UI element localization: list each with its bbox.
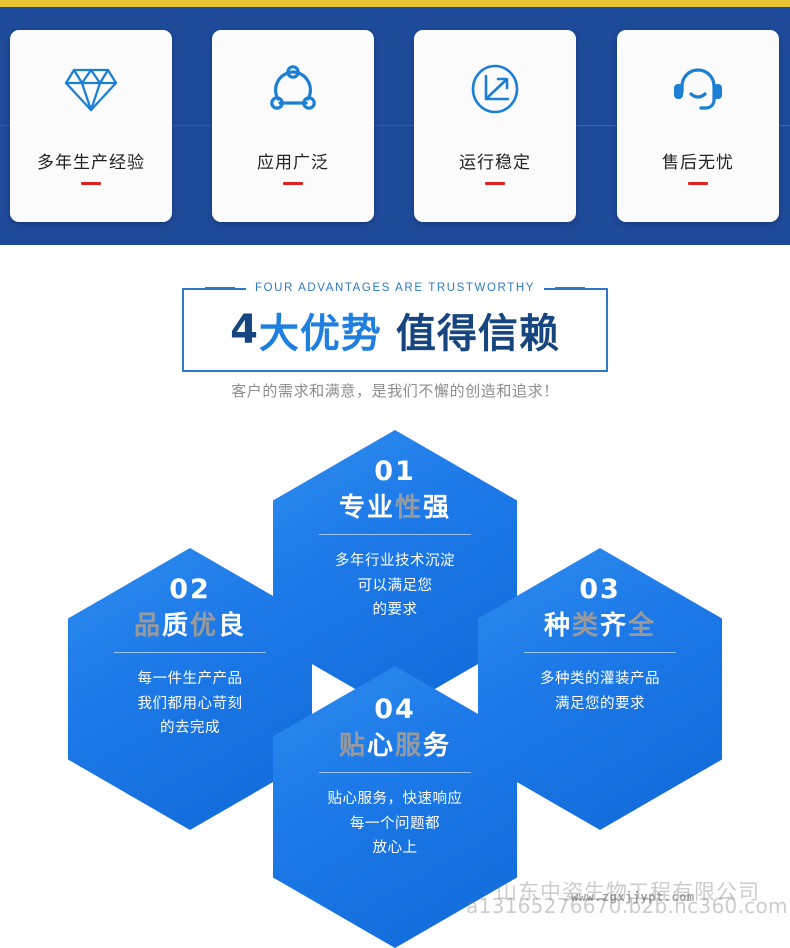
advantage-number: 01 (374, 458, 416, 485)
feature-card-label: 售后无忧 (662, 148, 734, 173)
advantage-divider (114, 652, 266, 653)
advantage-description: 多种类的灌装产品满足您的要求 (540, 667, 660, 717)
advantage-title-char: 质 (162, 611, 190, 641)
advantage-description-line: 每一件生产产品 (138, 667, 243, 692)
advantage-title-char: 品 (134, 611, 162, 641)
feature-card-experience[interactable]: 多年生产经验 (10, 30, 172, 222)
page-title: 4大优势值得信赖 (182, 288, 608, 372)
advantage-description: 每一件生产产品我们都用心苛刻的去完成 (138, 667, 243, 742)
advantage-description-line: 放心上 (328, 836, 463, 861)
advantage-title-char: 类 (572, 611, 600, 641)
card-underline-dash (485, 182, 505, 185)
card-underline-dash (688, 182, 708, 185)
advantage-title-char: 全 (628, 611, 656, 641)
advantage-title: 专业性强 (339, 494, 451, 523)
eyebrow-text: FOUR ADVANTAGES ARE TRUSTWORTHY (246, 282, 544, 294)
advantage-description-line: 的要求 (335, 598, 455, 623)
advantage-divider (524, 652, 676, 653)
section-heading: FOUR ADVANTAGES ARE TRUSTWORTHY 4大优势值得信赖… (0, 252, 790, 417)
features-band: 多年生产经验 应用广泛 (0, 7, 790, 245)
advantage-title-char: 优 (190, 611, 218, 641)
feature-card-after-sales[interactable]: 售后无忧 (617, 30, 779, 222)
network-share-icon (262, 60, 324, 118)
advantage-number: 03 (579, 576, 621, 603)
page-subtitle: 客户的需求和满意，是我们不懈的创造和追求！ (0, 380, 790, 401)
advantage-title: 贴心服务 (339, 732, 451, 761)
title-rest: 值得信赖 (396, 301, 560, 359)
eyebrow-rule-left (205, 287, 235, 289)
advantage-description: 多年行业技术沉淀可以满足您的要求 (335, 549, 455, 624)
advantage-description-line: 多年行业技术沉淀 (335, 549, 455, 574)
advantage-title-char: 齐 (600, 611, 628, 641)
eyebrow-row: FOUR ADVANTAGES ARE TRUSTWORTHY (0, 282, 790, 294)
advantage-description-line: 可以满足您 (335, 574, 455, 599)
growth-chart-circle-icon (464, 60, 526, 118)
advantage-hexagon-cluster: 01 专业性强 多年行业技术沉淀可以满足您的要求 02 品质优良 每一件生产产品… (0, 420, 790, 917)
advantage-description-line: 贴心服务，快速响应 (328, 787, 463, 812)
advantage-description-line: 的去完成 (138, 716, 243, 741)
advantage-divider (319, 772, 471, 773)
diamond-icon (60, 60, 122, 118)
advantage-divider (319, 534, 471, 535)
advantage-title-char: 良 (218, 611, 246, 641)
advantage-title-char: 贴 (339, 731, 367, 761)
advantage-title-char: 强 (423, 493, 451, 523)
advantage-description-line: 每一个问题都 (328, 812, 463, 837)
advantage-description: 贴心服务，快速响应每一个问题都放心上 (328, 787, 463, 862)
advantage-title-char: 心 (367, 731, 395, 761)
title-number: 4 (230, 307, 259, 353)
advantage-description-line: 满足您的要求 (540, 692, 660, 717)
advantage-description-line: 我们都用心苛刻 (138, 692, 243, 717)
advantage-number: 02 (169, 576, 211, 603)
advantage-title-char: 专 (339, 493, 367, 523)
title-highlight: 大优势 (259, 301, 382, 359)
top-accent-bar (0, 0, 790, 7)
advantage-title-char: 服 (395, 731, 423, 761)
feature-card-stable-operation[interactable]: 运行稳定 (414, 30, 576, 222)
feature-card-label: 运行稳定 (459, 148, 531, 173)
advantage-title-char: 性 (395, 493, 423, 523)
feature-card-wide-application[interactable]: 应用广泛 (212, 30, 374, 222)
card-underline-dash (81, 182, 101, 185)
advantage-number: 04 (374, 696, 416, 723)
advantage-title-char: 种 (544, 611, 572, 641)
card-underline-dash (283, 182, 303, 185)
feature-card-list: 多年生产经验 应用广泛 (0, 7, 790, 245)
feature-card-label: 多年生产经验 (37, 148, 145, 173)
advantage-title-char: 业 (367, 493, 395, 523)
feature-card-label: 应用广泛 (257, 148, 329, 173)
advantage-title: 种类齐全 (544, 612, 656, 641)
headset-support-icon (667, 60, 729, 118)
advantage-title-char: 务 (423, 731, 451, 761)
advantage-description-line: 多种类的灌装产品 (540, 667, 660, 692)
advantage-title: 品质优良 (134, 612, 246, 641)
eyebrow-rule-right (555, 287, 585, 289)
